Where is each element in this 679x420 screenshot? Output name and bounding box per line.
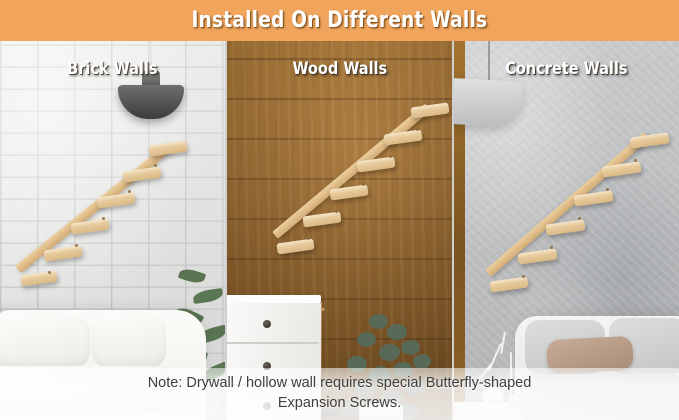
ladder-screw — [128, 190, 131, 193]
ladder-screw — [362, 183, 365, 186]
ladder-screw — [48, 271, 51, 274]
cat-ladder-wood — [275, 99, 455, 314]
panel-label-concrete: Concrete Walls — [460, 59, 673, 79]
note-line-1: Note: Drywall / hollow wall requires spe… — [148, 375, 532, 391]
ladder-step — [148, 140, 187, 156]
ladder-screw — [416, 128, 419, 131]
ladder-step — [122, 166, 161, 182]
page-title: Installed On Different Walls — [192, 8, 488, 33]
ladder-step — [276, 238, 314, 254]
installation-note-overlay: Note: Drywall / hollow wall requires spe… — [0, 368, 679, 420]
ladder-rail — [485, 132, 649, 277]
dresser-top — [225, 295, 321, 303]
ladder-step — [302, 211, 341, 227]
panel-label-brick: Brick Walls — [6, 59, 219, 79]
ladder-step — [630, 132, 670, 148]
note-line-2: Expansion Screws. — [278, 395, 401, 411]
header-banner: Installed On Different Walls — [0, 0, 679, 41]
panel-wood-walls: Wood Walls — [225, 41, 455, 420]
ladder-screw — [389, 155, 392, 158]
ladder-screw — [154, 164, 157, 167]
ladder-screw — [335, 210, 338, 213]
ladder-step — [383, 129, 422, 145]
panel-concrete-walls: Concrete Walls — [454, 41, 679, 420]
cat-ladder-concrete — [488, 119, 678, 349]
installation-note: Note: Drywall / hollow wall requires spe… — [134, 374, 546, 413]
panel-brick-walls: Brick Walls — [0, 41, 225, 420]
panel-label-wood: Wood Walls — [232, 59, 446, 79]
ladder-step — [410, 102, 449, 118]
dresser-knob — [263, 320, 271, 328]
ladder-step — [518, 248, 558, 264]
ladder-screw — [75, 244, 78, 247]
ladder-step — [490, 276, 529, 292]
ladder-screw — [102, 217, 105, 220]
ladder-step — [20, 271, 57, 287]
ladder-rail — [272, 103, 431, 238]
wall-type-panels: Brick Walls — [0, 41, 679, 420]
ladder-rail — [15, 143, 173, 273]
product-feature-image: Installed On Different Walls — [0, 0, 679, 420]
ladder-screw — [307, 237, 310, 240]
